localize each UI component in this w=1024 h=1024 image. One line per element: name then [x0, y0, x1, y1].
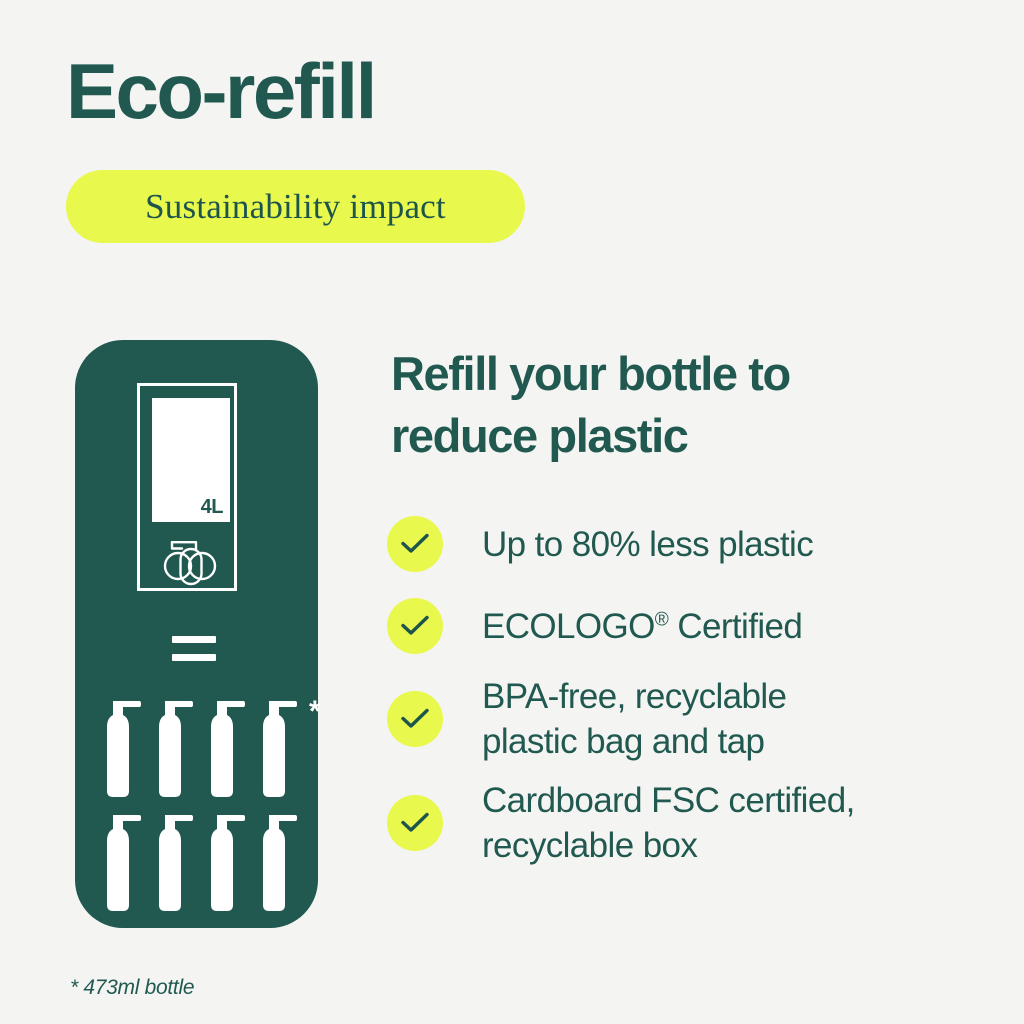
benefit-label-line-1: BPA-free, recyclable [482, 674, 786, 719]
subtitle-pill-badge: Sustainability impact [66, 170, 525, 243]
content-heading-line-2: reduce plastic [391, 405, 921, 467]
benefit-item: BPA-free, recyclable plastic bag and tap [387, 669, 1007, 769]
illustration-panel: 4L [75, 340, 318, 928]
bottle-grid: * [97, 695, 305, 915]
pump-bottle-icon [201, 809, 251, 915]
benefit-item: Cardboard FSC certified, recyclable box [387, 773, 1007, 873]
pump-bottle-icon [253, 809, 303, 915]
refill-box-outline: 4L [137, 383, 237, 591]
tap-spout-icon [162, 536, 220, 586]
refill-box-front-face: 4L [152, 398, 230, 522]
bottle-row [97, 809, 305, 915]
subtitle-pill-label: Sustainability impact [145, 188, 446, 226]
check-icon [387, 516, 443, 572]
content-heading: Refill your bottle to reduce plastic [391, 343, 921, 467]
check-icon [387, 795, 443, 851]
footnote-text: * 473ml bottle [70, 976, 194, 1000]
pump-bottle-icon [149, 695, 199, 801]
benefit-label-line-2: recyclable box [482, 823, 855, 868]
equals-sign-icon [172, 636, 216, 666]
benefit-label-line-1: Cardboard FSC certified, [482, 778, 855, 823]
infographic-page: Eco-refill Sustainability impact 4L [0, 0, 1024, 1024]
content-heading-line-1: Refill your bottle to [391, 343, 921, 405]
pump-bottle-icon [97, 809, 147, 915]
benefit-item: Up to 80% less plastic [387, 505, 1007, 583]
benefit-label-suffix: Certified [668, 607, 802, 646]
pump-bottle-icon [97, 695, 147, 801]
benefit-label: Up to 80% less plastic [482, 522, 813, 567]
pump-bottle-icon [149, 809, 199, 915]
benefit-label-main: ECOLOGO [482, 607, 655, 646]
bottle-row [97, 695, 305, 801]
pump-bottle-icon [253, 695, 303, 801]
check-icon [387, 691, 443, 747]
box-volume-label: 4L [201, 496, 223, 518]
benefit-label: BPA-free, recyclable plastic bag and tap [482, 674, 786, 764]
footnote-asterisk-marker: * [309, 697, 321, 727]
registered-trademark-symbol: ® [655, 609, 668, 630]
benefits-list: Up to 80% less plastic ECOLOGO® Certifie… [387, 505, 1007, 877]
benefit-label-line-2: plastic bag and tap [482, 719, 786, 764]
benefit-label: Cardboard FSC certified, recyclable box [482, 778, 855, 868]
page-title: Eco-refill [66, 48, 375, 134]
benefit-label: ECOLOGO® Certified [482, 604, 802, 649]
check-icon [387, 598, 443, 654]
pump-bottle-icon [201, 695, 251, 801]
benefit-item: ECOLOGO® Certified [387, 587, 1007, 665]
